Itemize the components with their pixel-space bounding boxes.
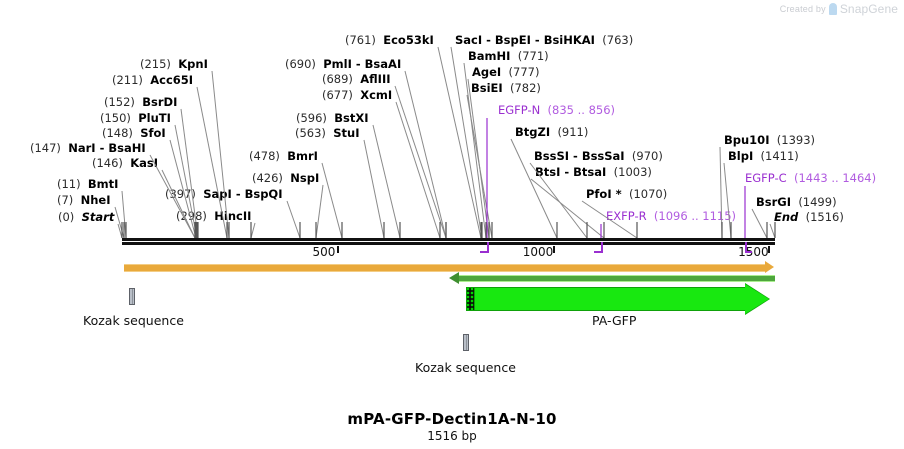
leader-line xyxy=(251,223,255,238)
enzyme-name: PfoI * xyxy=(586,187,622,201)
enzyme-label-bamhi[interactable]: BamHI (771) xyxy=(468,50,549,62)
enzyme-position: (152) xyxy=(104,95,135,109)
leader-line xyxy=(115,207,124,238)
enzyme-name: Eco53kI xyxy=(383,33,434,47)
feature-range: (835 .. 856) xyxy=(548,103,616,117)
enzyme-name: SfoI xyxy=(140,126,165,140)
enzyme-name: BamHI xyxy=(468,49,510,63)
enzyme-label-blpi[interactable]: BlpI (1411) xyxy=(728,150,799,162)
enzyme-separator: - xyxy=(352,57,365,71)
enzyme-position: (690) xyxy=(285,57,316,71)
enzyme-position: (298) xyxy=(176,209,207,223)
enzyme-label-bsiei[interactable]: BsiEI (782) xyxy=(471,82,541,94)
leader-line xyxy=(770,224,775,238)
enzyme-label-eco53ki[interactable]: (761) Eco53kI xyxy=(345,34,434,46)
enzyme-name: End xyxy=(774,210,798,224)
enzyme-label-pfoi[interactable]: PfoI * (1070) xyxy=(586,188,667,200)
enzyme-position: (1003) xyxy=(614,165,652,179)
enzyme-name: Bpu10I xyxy=(724,133,769,147)
leader-line xyxy=(752,209,767,238)
enzyme-name: BsaAI xyxy=(365,57,402,71)
enzyme-name: BssSaI xyxy=(582,149,625,163)
enzyme-name: BsiHKAI xyxy=(544,33,595,47)
leader-line xyxy=(373,125,400,238)
enzyme-name: SacI xyxy=(455,33,482,47)
enzyme-position: (7) xyxy=(57,193,73,207)
enzyme-separator: - xyxy=(482,33,495,47)
leader-line xyxy=(395,86,446,238)
feature-range: (1443 .. 1464) xyxy=(794,171,876,185)
enzyme-label-xcmi[interactable]: (677) XcmI xyxy=(322,89,392,101)
leader-line xyxy=(322,163,342,238)
feature-label-egfp-c[interactable]: EGFP-C (1443 .. 1464) xyxy=(745,172,876,184)
feature-name: EGFP-N xyxy=(498,103,540,117)
enzyme-name: SapI xyxy=(203,187,232,201)
enzyme-position: (146) xyxy=(92,156,123,170)
snapgene-logo-icon xyxy=(829,3,837,15)
enzyme-name: KasI xyxy=(130,156,158,170)
enzyme-position: (761) xyxy=(345,33,376,47)
enzyme-label-nari-bsahi[interactable]: (147) NarI - BsaHI xyxy=(30,142,146,154)
enzyme-label-stui[interactable]: (563) StuI xyxy=(295,127,360,139)
leader-line xyxy=(287,201,300,238)
watermark-prefix: Created by xyxy=(780,4,826,14)
enzyme-name: HincII xyxy=(214,209,251,223)
watermark-brand: SnapGene xyxy=(840,2,898,16)
enzyme-label-bmri[interactable]: (478) BmrI xyxy=(249,150,318,162)
enzyme-name: BssSI xyxy=(534,149,569,163)
enzyme-separator: - xyxy=(531,33,544,47)
enzyme-name: NarI xyxy=(68,141,95,155)
enzyme-position: (1393) xyxy=(777,133,815,147)
enzyme-position: (563) xyxy=(295,126,326,140)
kozak-label-upper: Kozak sequence xyxy=(83,313,184,328)
enzyme-label-btsi-btsai[interactable]: BtsI - BtsaI (1003) xyxy=(535,166,652,178)
enzyme-name: BsiEI xyxy=(471,81,503,95)
enzyme-position: (777) xyxy=(509,65,540,79)
kozak-label-lower: Kozak sequence xyxy=(415,360,516,375)
ruler-tick-label: 500 xyxy=(307,245,335,259)
enzyme-label-agei[interactable]: AgeI (777) xyxy=(472,66,539,78)
enzyme-name: BmrI xyxy=(287,149,318,163)
leader-line xyxy=(122,191,126,238)
leader-line xyxy=(162,170,195,238)
page-title: mPA-GFP-Dectin1A-N-10 xyxy=(0,410,904,428)
enzyme-name: PluTI xyxy=(138,111,171,125)
enzyme-name: NheI xyxy=(81,193,111,207)
enzyme-position: (426) xyxy=(252,171,283,185)
enzyme-position: (11) xyxy=(57,177,81,191)
ruler-tick xyxy=(337,246,339,253)
enzyme-label-bmti[interactable]: (11) BmtI xyxy=(57,178,118,190)
feature-marker-foot xyxy=(594,251,601,253)
enzyme-name: AflIII xyxy=(360,72,390,86)
enzyme-label-sfoi[interactable]: (148) SfoI xyxy=(102,127,166,139)
ruler-tick-label: 1500 xyxy=(738,245,766,259)
enzyme-label-acc65i[interactable]: (211) Acc65I xyxy=(112,74,193,86)
enzyme-label-nspi[interactable]: (426) NspI xyxy=(252,172,319,184)
enzyme-label-bsrdi[interactable]: (152) BsrDI xyxy=(104,96,177,108)
enzyme-position: (1516) xyxy=(806,210,844,224)
enzyme-separator: - xyxy=(560,165,573,179)
feature-marker-stem xyxy=(601,242,603,253)
enzyme-position: (211) xyxy=(112,73,143,87)
enzyme-position: (689) xyxy=(322,72,353,86)
enzyme-position: (782) xyxy=(510,81,541,95)
enzyme-label-nhei[interactable]: (7) NheI xyxy=(57,194,111,206)
enzyme-position: (596) xyxy=(296,111,327,125)
enzyme-position: (1411) xyxy=(761,149,799,163)
leader-line xyxy=(468,79,489,238)
enzyme-position: (215) xyxy=(140,57,171,71)
enzyme-label-pmli-bsaai[interactable]: (690) PmlI - BsaAI xyxy=(285,58,401,70)
enzyme-separator: - xyxy=(569,149,582,163)
leader-line xyxy=(118,224,122,238)
enzyme-name: BspEI xyxy=(495,33,531,47)
backbone-strand-bottom xyxy=(122,242,775,245)
enzyme-label-start[interactable]: (0) Start xyxy=(58,211,114,223)
leader-line xyxy=(467,95,492,238)
enzyme-name: PmlI xyxy=(323,57,352,71)
enzyme-label-pluti[interactable]: (150) PluTI xyxy=(100,112,171,124)
enzyme-position: (1070) xyxy=(629,187,667,201)
enzyme-label-end[interactable]: End (1516) xyxy=(774,211,844,223)
ruler-tick xyxy=(553,246,555,253)
leader-line xyxy=(724,163,731,238)
enzyme-position: (1499) xyxy=(798,195,836,209)
enzyme-position: (763) xyxy=(602,33,633,47)
enzyme-position: (970) xyxy=(632,149,663,163)
snapgene-watermark: Created by SnapGene xyxy=(780,2,898,16)
enzyme-position: (478) xyxy=(249,149,280,163)
enzyme-label-bsrgi[interactable]: BsrGI (1499) xyxy=(756,196,837,208)
leader-line-layer xyxy=(0,0,904,449)
source-feature-bar xyxy=(124,264,765,272)
ruler-tick-label: 1000 xyxy=(523,245,551,259)
feature-name: EGFP-C xyxy=(745,171,787,185)
enzyme-name: Start xyxy=(82,210,115,224)
leader-line xyxy=(720,147,722,238)
enzyme-label-bstxi[interactable]: (596) BstXI xyxy=(296,112,369,124)
enzyme-name: BlpI xyxy=(728,149,753,163)
pa-gfp-arrow-body xyxy=(466,287,746,311)
enzyme-name: BspQI xyxy=(245,187,283,201)
reverse-feature-arrowhead xyxy=(449,272,459,284)
enzyme-name: KpnI xyxy=(178,57,208,71)
kozak-marker-upper xyxy=(129,288,135,305)
feature-marker-foot xyxy=(480,251,487,253)
enzyme-name: AgeI xyxy=(472,65,501,79)
kozak-marker-lower xyxy=(463,334,469,351)
feature-label-egfp-n[interactable]: EGFP-N (835 .. 856) xyxy=(498,104,615,116)
feature-marker-foot xyxy=(745,251,752,253)
pa-gfp-truncation-hatch xyxy=(466,287,475,311)
enzyme-name: XcmI xyxy=(360,88,392,102)
feature-name: EXFP-R xyxy=(606,209,647,223)
enzyme-label-kpni[interactable]: (215) KpnI xyxy=(140,58,208,70)
reverse-feature-bar xyxy=(459,275,775,282)
enzyme-name: BtsaI xyxy=(573,165,606,179)
feature-label-exfp-r[interactable]: EXFP-R (1096 .. 1115) xyxy=(606,210,736,222)
enzyme-position: (397) xyxy=(165,187,196,201)
enzyme-label-bpu10i[interactable]: Bpu10I (1393) xyxy=(724,134,815,146)
plasmid-length: 1516 bp xyxy=(0,429,904,443)
leader-line xyxy=(396,102,440,238)
enzyme-position: (0) xyxy=(58,210,74,224)
enzyme-name: BsrGI xyxy=(756,195,791,209)
enzyme-label-hincii[interactable]: (298) HincII xyxy=(176,210,251,222)
enzyme-label-bsssi-bsssai[interactable]: BssSI - BssSaI (970) xyxy=(534,150,663,162)
enzyme-position: (148) xyxy=(102,126,133,140)
enzyme-position: (677) xyxy=(322,88,353,102)
enzyme-label-kasi[interactable]: (146) KasI xyxy=(92,157,158,169)
enzyme-name: StuI xyxy=(333,126,359,140)
enzyme-label-aflii[interactable]: (689) AflIII xyxy=(322,73,391,85)
enzyme-position: (911) xyxy=(557,125,588,139)
enzyme-name: BsrDI xyxy=(142,95,177,109)
feature-marker-stem xyxy=(487,242,489,253)
leader-line xyxy=(405,71,446,238)
enzyme-name: NspI xyxy=(290,171,319,185)
enzyme-label-sapi-bspqi[interactable]: (397) SapI - BspQI xyxy=(165,188,283,200)
enzyme-label-btgzi[interactable]: BtgZI (911) xyxy=(515,126,588,138)
enzyme-name: BmtI xyxy=(88,177,119,191)
enzyme-name: BsaHI xyxy=(108,141,145,155)
enzyme-label-sac-bsp-bsihka[interactable]: SacI - BspEI - BsiHKAI (763) xyxy=(455,34,633,46)
enzyme-name: BtsI xyxy=(535,165,560,179)
leader-line xyxy=(364,140,384,238)
leader-line xyxy=(316,185,323,238)
enzyme-name: Acc65I xyxy=(150,73,193,87)
pa-gfp-arrowhead xyxy=(745,284,769,314)
plasmid-map-canvas: Created by SnapGene (761) Eco53kISacI - … xyxy=(0,0,904,449)
enzyme-name: BtgZI xyxy=(515,125,550,139)
source-feature-arrowhead xyxy=(765,261,774,273)
enzyme-position: (147) xyxy=(30,141,61,155)
enzyme-name: BstXI xyxy=(334,111,368,125)
feature-range: (1096 .. 1115) xyxy=(654,209,736,223)
enzyme-position: (771) xyxy=(518,49,549,63)
enzyme-separator: - xyxy=(232,187,245,201)
enzyme-separator: - xyxy=(96,141,109,155)
pa-gfp-label: PA-GFP xyxy=(592,313,636,328)
enzyme-position: (150) xyxy=(100,111,131,125)
